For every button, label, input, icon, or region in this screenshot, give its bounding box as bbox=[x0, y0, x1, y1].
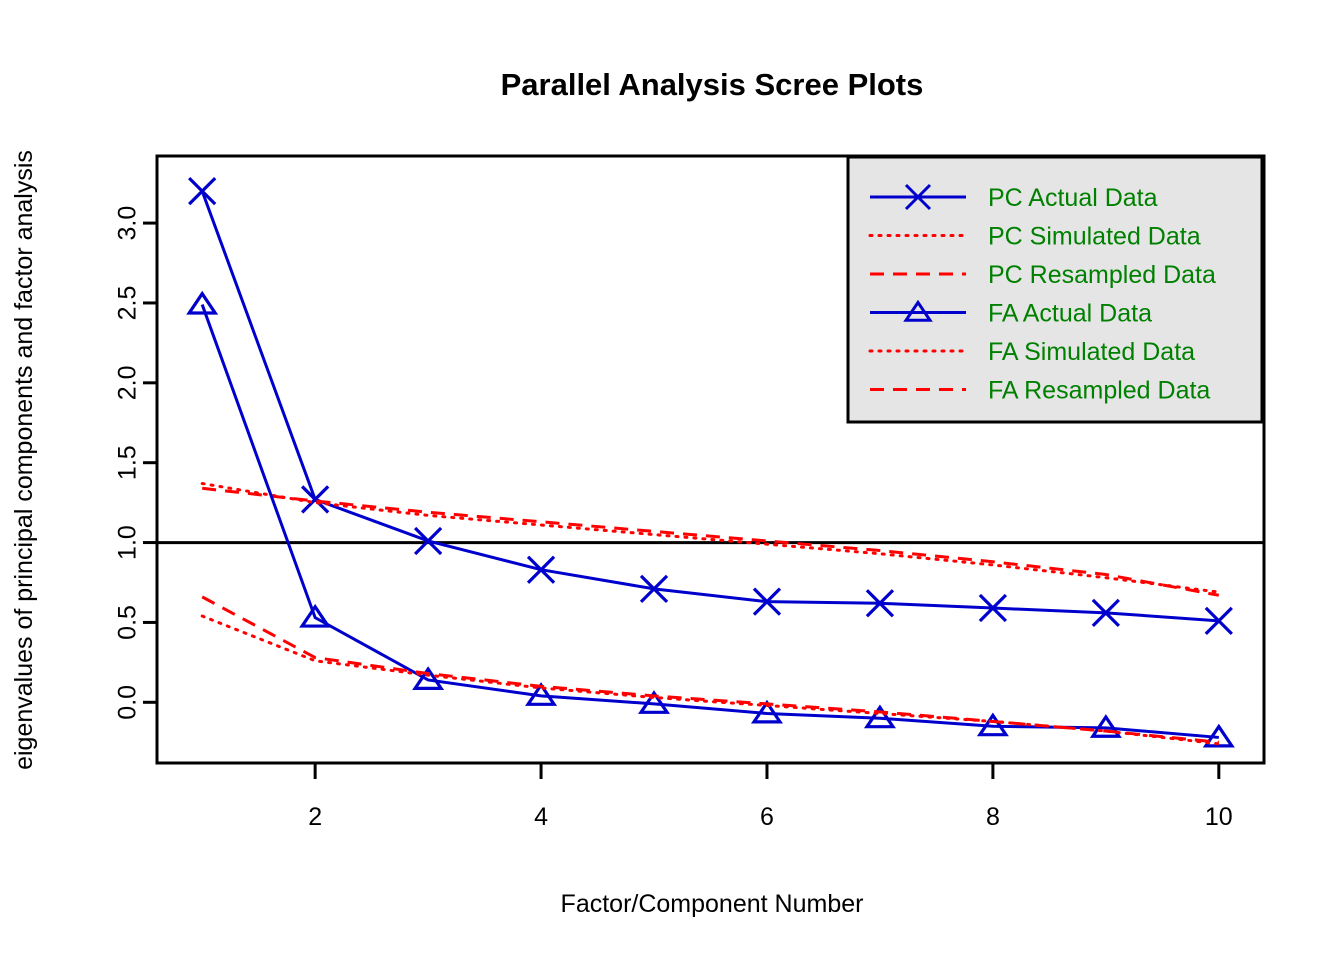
y-tick-label: 1.5 bbox=[114, 445, 142, 480]
legend-item-label: FA Resampled Data bbox=[988, 377, 1210, 405]
legend: PC Actual DataPC Simulated DataPC Resamp… bbox=[848, 157, 1262, 422]
x-tick-label: 2 bbox=[308, 803, 322, 831]
scree-plot-figure: Parallel Analysis Scree Plots Factor/Com… bbox=[0, 0, 1344, 960]
x-tick-label: 6 bbox=[760, 803, 774, 831]
y-axis-label: eigenvalues of principal components and … bbox=[10, 150, 38, 770]
y-tick-label: 1.0 bbox=[114, 525, 142, 560]
page-title: Parallel Analysis Scree Plots bbox=[501, 67, 924, 102]
legend-item-label: PC Actual Data bbox=[988, 184, 1158, 212]
x-tick-label: 8 bbox=[986, 803, 1000, 831]
y-tick-label: 2.5 bbox=[114, 286, 142, 321]
x-tick-label: 4 bbox=[534, 803, 548, 831]
scree-plot-canvas: Parallel Analysis Scree Plots Factor/Com… bbox=[0, 0, 1344, 960]
y-tick-label: 2.0 bbox=[114, 365, 142, 400]
figure-background bbox=[0, 0, 1344, 960]
legend-item-label: PC Resampled Data bbox=[988, 261, 1216, 289]
x-axis-label: Factor/Component Number bbox=[561, 890, 864, 918]
y-tick-label: 3.0 bbox=[114, 206, 142, 241]
y-tick-label: 0.5 bbox=[114, 605, 142, 640]
legend-item-label: FA Actual Data bbox=[988, 300, 1152, 328]
legend-item-label: PC Simulated Data bbox=[988, 223, 1201, 251]
legend-item-label: FA Simulated Data bbox=[988, 338, 1195, 366]
y-tick-label: 0.0 bbox=[114, 685, 142, 720]
x-tick-label: 10 bbox=[1205, 803, 1233, 831]
